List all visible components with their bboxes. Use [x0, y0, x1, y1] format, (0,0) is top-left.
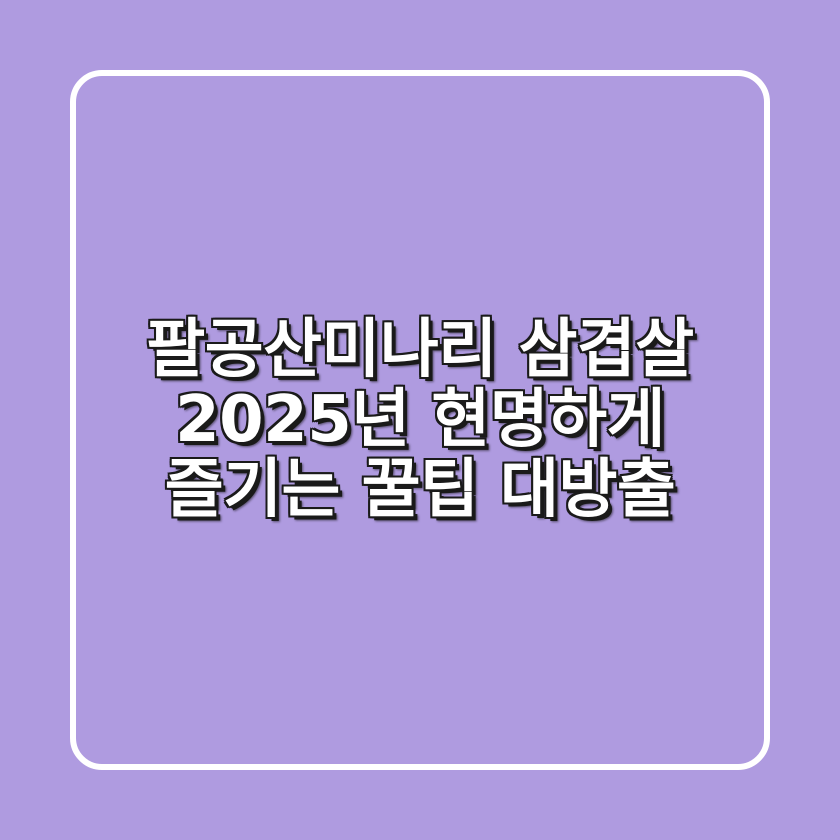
- title-line-3: 즐기는 꿀팁 대방출: [80, 455, 760, 525]
- title-line-2: 2025년 현명하게: [80, 385, 760, 455]
- title-block: 팔공산미나리 삼겹살 2025년 현명하게 즐기는 꿀팁 대방출: [70, 315, 770, 525]
- title-line-1: 팔공산미나리 삼겹살: [80, 315, 760, 385]
- thumbnail-card: 팔공산미나리 삼겹살 2025년 현명하게 즐기는 꿀팁 대방출: [0, 0, 840, 840]
